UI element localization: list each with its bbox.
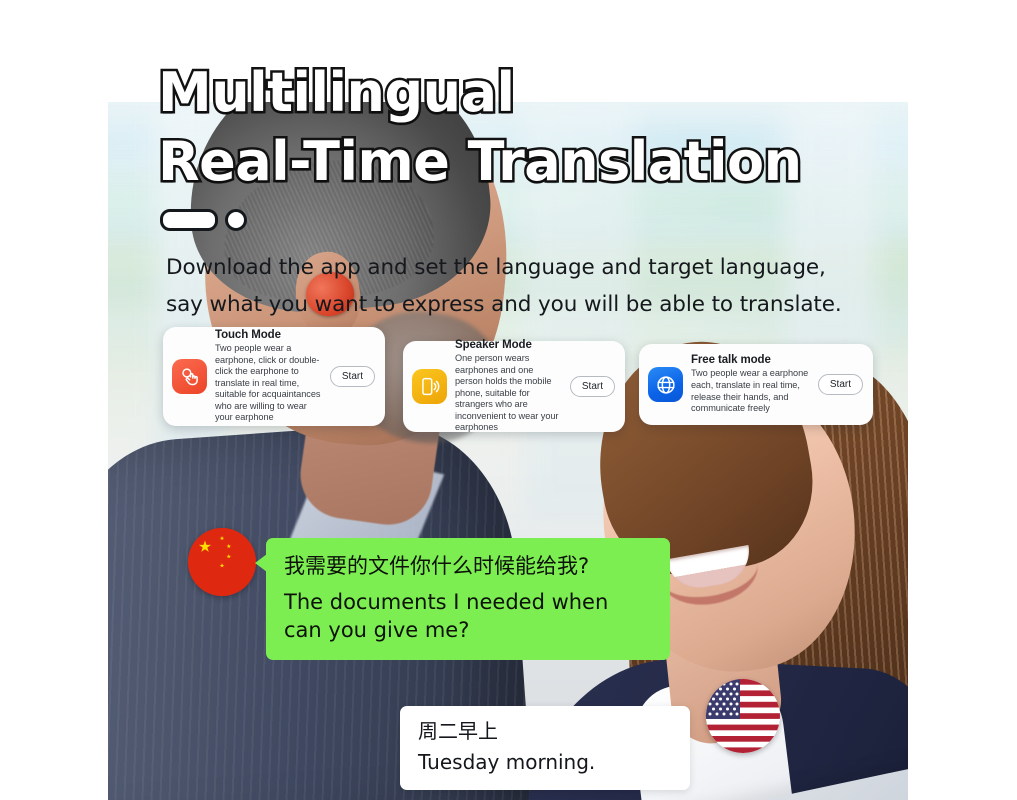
chat-translated-text: Tuesday morning. [418, 749, 672, 776]
chat-translated-text: The documents I needed when can you give… [284, 588, 652, 644]
chat-bubble-outgoing: 周二早上 Tuesday morning. [400, 706, 690, 790]
page-subtitle: Download the app and set the language an… [166, 249, 926, 323]
mode-card-body: Touch Mode Two people wear a earphone, c… [215, 329, 323, 424]
mode-card-free-talk[interactable]: Free talk mode Two people wear a earphon… [639, 344, 873, 425]
chat-source-text: 我需要的文件你什么时候能给我? [284, 552, 652, 580]
earbud-stem-icon [160, 209, 218, 231]
headline-line-2: Real-Time Translation [158, 127, 898, 196]
touch-gesture-icon [172, 359, 207, 394]
man-figure [110, 102, 540, 800]
mode-title: Touch Mode [215, 329, 323, 341]
mode-card-speaker[interactable]: Speaker Mode One person wears earphones … [403, 341, 625, 432]
subtitle-line-2: say what you want to express and you wil… [166, 286, 926, 323]
start-button[interactable]: Start [330, 366, 375, 387]
background-photo [108, 102, 908, 800]
subtitle-line-1: Download the app and set the language an… [166, 249, 926, 286]
mode-card-body: Free talk mode Two people wear a earphon… [691, 354, 811, 414]
mode-description: Two people wear a earphone, click or dou… [215, 343, 323, 424]
mode-title: Free talk mode [691, 354, 811, 366]
chat-bubble-incoming: 我需要的文件你什么时候能给我? The documents I needed w… [266, 538, 670, 660]
headline-line-1: Multilingual [158, 58, 898, 127]
page-title: Multilingual Real-Time Translation [158, 58, 898, 196]
promo-banner: Multilingual Real-Time Translation Downl… [0, 0, 1017, 800]
phone-speaker-icon [412, 369, 447, 404]
mode-description: One person wears earphones and one perso… [455, 353, 563, 434]
earbud-divider [160, 209, 247, 231]
chat-source-text: 周二早上 [418, 718, 672, 745]
mode-title: Speaker Mode [455, 339, 563, 351]
mode-card-body: Speaker Mode One person wears earphones … [455, 339, 563, 434]
mode-description: Two people wear a earphone each, transla… [691, 368, 811, 414]
usa-flag-avatar [706, 679, 780, 753]
earbud-dot-icon [225, 209, 247, 231]
globe-icon [648, 367, 683, 402]
start-button[interactable]: Start [818, 374, 863, 395]
mode-card-touch[interactable]: Touch Mode Two people wear a earphone, c… [163, 327, 385, 426]
start-button[interactable]: Start [570, 376, 615, 397]
china-flag-avatar [188, 528, 256, 596]
